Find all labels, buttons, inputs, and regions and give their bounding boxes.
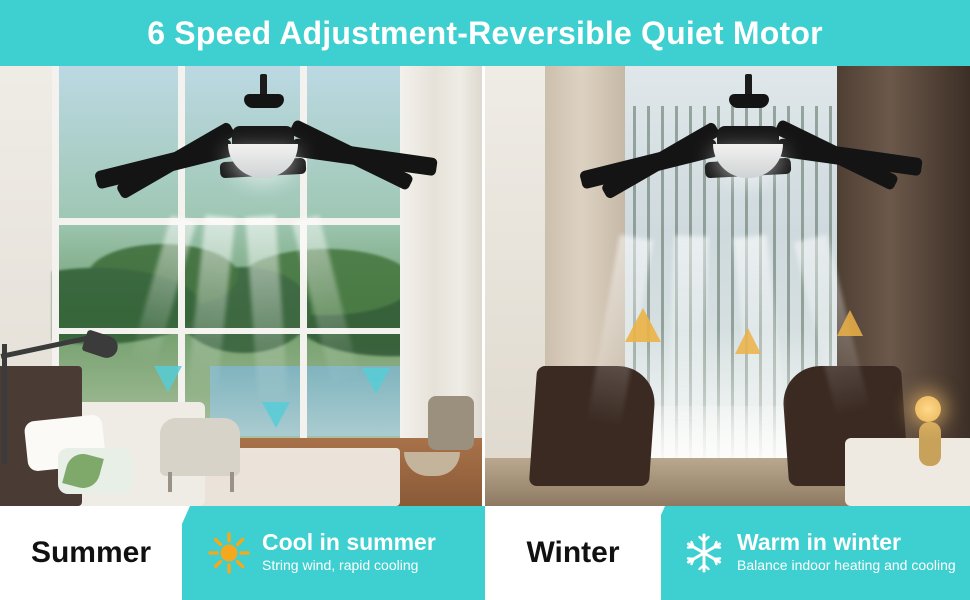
winter-headline: Warm in winter [737, 530, 956, 555]
summer-feature-panel: Summer [0, 506, 485, 600]
airflow-arrow-down-icon [362, 368, 390, 394]
airflow-ray [668, 235, 709, 436]
image-pair [0, 66, 970, 506]
product-infographic: 6 Speed Adjustment-Reversible Quiet Moto… [0, 0, 970, 600]
window-transom [52, 328, 422, 334]
header-banner: 6 Speed Adjustment-Reversible Quiet Moto… [0, 0, 970, 66]
summer-subtext: String wind, rapid cooling [262, 555, 436, 576]
airflow-arrow-up-icon [625, 308, 661, 342]
airflow-arrow-up-icon [735, 328, 761, 354]
table-lamp [915, 396, 941, 422]
winter-feature-content: Warm in winter Balance indoor heating an… [671, 506, 970, 600]
window-transom [52, 218, 422, 225]
airflow-arrow-down-icon [262, 402, 290, 428]
winter-season-label: Winter [485, 506, 661, 600]
ceiling-fan [112, 74, 412, 214]
fan-blade [115, 121, 236, 200]
winter-scene-photo [485, 66, 970, 506]
summer-text-block: Cool in summer String wind, rapid coolin… [262, 530, 436, 576]
feature-bar: Summer [0, 506, 970, 600]
winter-subtext: Balance indoor heating and cooling [737, 555, 956, 576]
fan-blade [600, 121, 721, 200]
winter-text-block: Warm in winter Balance indoor heating an… [737, 530, 956, 576]
page-title: 6 Speed Adjustment-Reversible Quiet Moto… [147, 17, 823, 49]
chair-leg [168, 472, 172, 492]
fan-canopy [244, 94, 284, 108]
summer-season-label: Summer [0, 506, 182, 600]
snowflake-icon [681, 530, 727, 576]
fan-canopy [729, 94, 769, 108]
airflow-arrow-down-icon [154, 366, 182, 392]
ceiling-fan [597, 74, 897, 214]
summer-feature-content: Cool in summer String wind, rapid coolin… [196, 506, 485, 600]
bed [845, 438, 970, 506]
winter-feature-panel: Winter [485, 506, 970, 600]
summer-scene-photo [0, 66, 485, 506]
sun-icon [206, 530, 252, 576]
lounge-chair [160, 418, 240, 476]
floor-lamp-pole [2, 344, 7, 464]
vase [919, 422, 941, 466]
summer-pool [210, 366, 425, 436]
summer-headline: Cool in summer [262, 530, 436, 555]
airflow-arrow-up-icon [837, 310, 863, 336]
woven-basket [428, 396, 474, 450]
chair-leg [230, 472, 234, 492]
